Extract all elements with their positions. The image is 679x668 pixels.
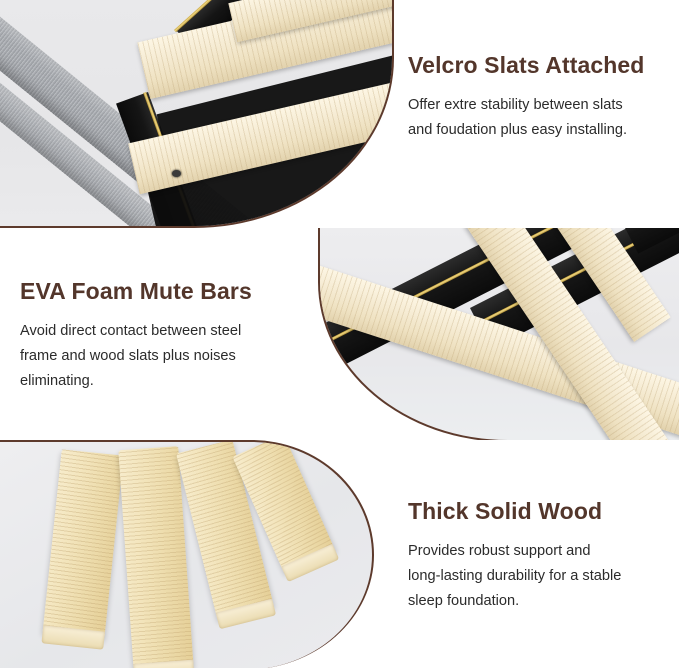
- velcro-slats-photo: [0, 0, 394, 228]
- eva-foam-photo: [318, 228, 679, 440]
- feature-panel-eva-foam: EVA Foam Mute Bars Avoid direct contact …: [0, 228, 679, 440]
- eva-foam-heading: EVA Foam Mute Bars: [20, 278, 278, 305]
- eva-foam-body-line-2: frame and wood slats plus noises: [20, 344, 278, 369]
- thick-solid-wood-text: Thick Solid Wood Provides robust support…: [408, 498, 660, 614]
- eva-foam-text: EVA Foam Mute Bars Avoid direct contact …: [20, 278, 278, 394]
- velcro-slats-heading: Velcro Slats Attached: [408, 52, 658, 79]
- wood-plank-1: [43, 449, 124, 639]
- feature-panel-thick-solid-wood: Thick Solid Wood Provides robust support…: [0, 440, 679, 668]
- feature-panel-velcro-slats: Velcro Slats Attached Offer extre stabil…: [0, 0, 679, 228]
- thick-solid-wood-body-line-3: sleep foundation.: [408, 589, 660, 614]
- screw-hole: [172, 170, 181, 177]
- thick-solid-wood-photo: [0, 440, 374, 668]
- velcro-slats-text: Velcro Slats Attached Offer extre stabil…: [408, 52, 658, 143]
- infographic-sheet: Velcro Slats Attached Offer extre stabil…: [0, 0, 679, 668]
- thick-solid-wood-body-line-2: long-lasting durability for a stable: [408, 564, 660, 589]
- eva-foam-body-line-3: eliminating.: [20, 369, 278, 394]
- eva-foam-body-line-1: Avoid direct contact between steel: [20, 319, 278, 344]
- velcro-slats-body-line-1: Offer extre stability between slats: [408, 93, 658, 118]
- thick-solid-wood-heading: Thick Solid Wood: [408, 498, 660, 525]
- thick-solid-wood-body-line-1: Provides robust support and: [408, 539, 660, 564]
- velcro-slats-body-line-2: and foudation plus easy installing.: [408, 118, 658, 143]
